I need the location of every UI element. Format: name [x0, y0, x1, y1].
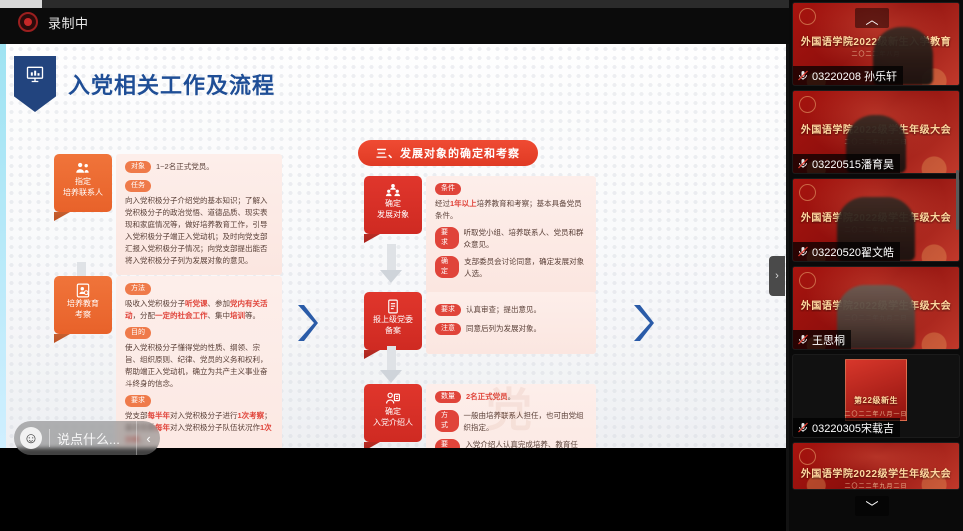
mic-muted-icon: [797, 69, 809, 82]
participant-name: 03220515潘育昊: [812, 156, 894, 172]
chevron-down-icon[interactable]: ﹀: [855, 496, 889, 516]
chevron-up-icon[interactable]: ︿: [855, 8, 889, 28]
flow-arrow-down-icon: [380, 346, 402, 383]
chat-input-bar[interactable]: ☺ 说点什么... ‹: [14, 421, 160, 455]
tile-subslogan: 二〇二二年八月一日: [793, 409, 959, 418]
step-tag-label: 确定发展对象: [377, 199, 409, 219]
participant-name: 王思桐: [812, 332, 845, 348]
divider: [49, 429, 50, 447]
document-icon: 报上级党委备案: [364, 292, 422, 350]
step-tag-label: 确定入党介绍人: [373, 407, 413, 427]
block-label: 任务: [125, 180, 151, 192]
block-label: 要求: [435, 304, 461, 316]
step-card: 报上级党委备案 要求认真审查；提出意见。 注意同意后列为发展对象。: [364, 292, 596, 354]
mic-muted-icon: [797, 157, 809, 170]
chevron-right-icon: [294, 301, 320, 345]
participant-tile[interactable]: 外国语学院2022级学生年级大会 二〇二二年九月二日 王思桐: [792, 266, 960, 350]
block-label: 要求: [435, 227, 459, 249]
record-dot-icon: [18, 12, 38, 32]
chevron-left-icon[interactable]: ‹: [136, 421, 160, 455]
block-label: 要求: [435, 439, 460, 448]
step-body: 条件经过1年以上培养教育和考察；基本具备党员条件。 要求听取党小组、培养联系人、…: [426, 176, 596, 293]
participant-tile[interactable]: 外国语学院2022级学生年级大会 二〇二二年九月二日 03220520翟文皓: [792, 178, 960, 262]
window-top-strip: [0, 0, 789, 8]
emblem-icon: [799, 96, 816, 113]
tile-subslogan: 二〇二二年九月二日: [793, 481, 959, 490]
step-tag-label: 报上级党委备案: [373, 315, 413, 335]
block-label: 要求: [125, 395, 151, 407]
page-title: 入党相关工作及流程: [68, 68, 275, 100]
participant-name-badge: 03220520翟文皓: [793, 242, 900, 261]
block-label: 方法: [125, 283, 151, 295]
step-body: 要求认真审查；提出意见。 注意同意后列为发展对象。: [426, 292, 596, 354]
mic-muted-icon: [797, 245, 809, 258]
slide-watermark: 党: [486, 374, 532, 440]
chevron-right-icon: [630, 301, 656, 345]
meeting-screen-share-window: 录制中 入党相关工作及流程 指定培养联系人: [0, 0, 963, 531]
smiley-icon[interactable]: ☺: [20, 427, 42, 449]
emblem-icon: [799, 448, 816, 465]
participant-video-rail[interactable]: 外国语学院2022级新生入学教育 二〇二二年八月 03220208 孙乐轩 外国…: [789, 0, 963, 531]
participant-name-badge: 03220515潘育昊: [793, 154, 900, 173]
chat-input-placeholder[interactable]: 说点什么...: [57, 429, 136, 448]
block-text: 认真审查；提出意见。: [466, 304, 541, 316]
shared-slide[interactable]: 入党相关工作及流程 指定培养联系人 对象1~2名正式党员。 任务向入党积极分子介…: [6, 44, 789, 448]
step-card: 确定入党介绍人 数量2名正式党员。 方式一般由培养联系人担任，也可由党组织指定。…: [364, 384, 596, 448]
person-badge-icon: 确定入党介绍人: [364, 384, 422, 442]
block-text: 同意后列为发展对象。: [466, 323, 541, 335]
participant-tile[interactable]: 外国语学院2022级学生年级大会 二〇二二年九月二日 03220515潘育昊: [792, 90, 960, 174]
block-label: 确定: [435, 256, 459, 278]
participant-name-badge: 03220208 孙乐轩: [793, 66, 903, 85]
block-text: 入党介绍人认真完成培养、教育任务。: [465, 439, 587, 448]
two-people-icon: 指定培养联系人: [54, 154, 112, 212]
group-people-icon: 确定发展对象: [364, 176, 422, 234]
left-edge-strip: [0, 44, 6, 448]
block-label: 注意: [435, 323, 461, 335]
step-body: 对象1~2名正式党员。 任务向入党积极分子介绍党的基本知识；了解入党积极分子的政…: [116, 154, 282, 275]
step-card: 指定培养联系人 对象1~2名正式党员。 任务向入党积极分子介绍党的基本知识；了解…: [54, 154, 282, 275]
emblem-icon: [799, 184, 816, 201]
panel-collapse-handle[interactable]: ›: [769, 256, 785, 296]
participant-name: 03220208 孙乐轩: [812, 68, 897, 84]
block-text: 吸收入党积极分子听党课、参加党内有关活动，分配一定的社会工作、集中培训等。: [125, 298, 273, 322]
block-label: 方式: [435, 410, 459, 432]
block-text: 向入党积极分子介绍党的基本知识；了解入党积极分子的政治觉悟、道德品质、现实表现和…: [125, 195, 273, 267]
mic-muted-icon: [797, 421, 809, 434]
block-label: 目的: [125, 327, 151, 339]
block-label: 数量: [435, 391, 461, 403]
block-text: 经过1年以上培养教育和考察；基本具备党员条件。: [435, 198, 587, 222]
person-search-icon: 培养教育考察: [54, 276, 112, 334]
step-tag-label: 指定培养联系人: [63, 177, 103, 197]
participant-name-badge: 03220305宋载吉: [793, 418, 900, 437]
block-text: 听取党小组、培养联系人、党员和群众意见。: [464, 227, 587, 251]
presentation-chart-icon: [14, 56, 56, 112]
participant-tile[interactable]: 外国语学院2022级学生年级大会 二〇二二年九月二日: [792, 442, 960, 490]
participant-tile[interactable]: 第22级新生 二〇二二年八月一日 03220305宋载吉: [792, 354, 960, 438]
block-text: 1~2名正式党员。: [156, 161, 214, 173]
step-tag-label: 培养教育考察: [67, 299, 99, 319]
section-heading: 三、发展对象的确定和考察: [358, 140, 538, 166]
block-text: 支部委员会讨论同意，确定发展对象人选。: [464, 256, 587, 280]
block-label: 条件: [435, 183, 461, 195]
participant-name-badge: 王思桐: [793, 330, 851, 349]
recording-label: 录制中: [48, 13, 89, 32]
participant-name: 03220520翟文皓: [812, 244, 894, 260]
tile-slogan: 第22级新生: [793, 395, 959, 406]
tile-slogan: 外国语学院2022级学生年级大会: [793, 465, 959, 480]
rail-scrollbar[interactable]: [956, 170, 959, 230]
emblem-icon: [799, 8, 816, 25]
emblem-icon: [799, 272, 816, 289]
block-text: 使入党积极分子懂得党的性质、纲领、宗旨、组织原则、纪律、党员的义务和权利，帮助端…: [125, 342, 273, 390]
window-top-strip-highlight: [0, 0, 42, 8]
participant-name: 03220305宋载吉: [812, 420, 894, 436]
mic-muted-icon: [797, 333, 809, 346]
block-label: 对象: [125, 161, 151, 173]
slide-title-group: 入党相关工作及流程: [14, 56, 275, 112]
flow-arrow-down-icon: [380, 244, 402, 283]
